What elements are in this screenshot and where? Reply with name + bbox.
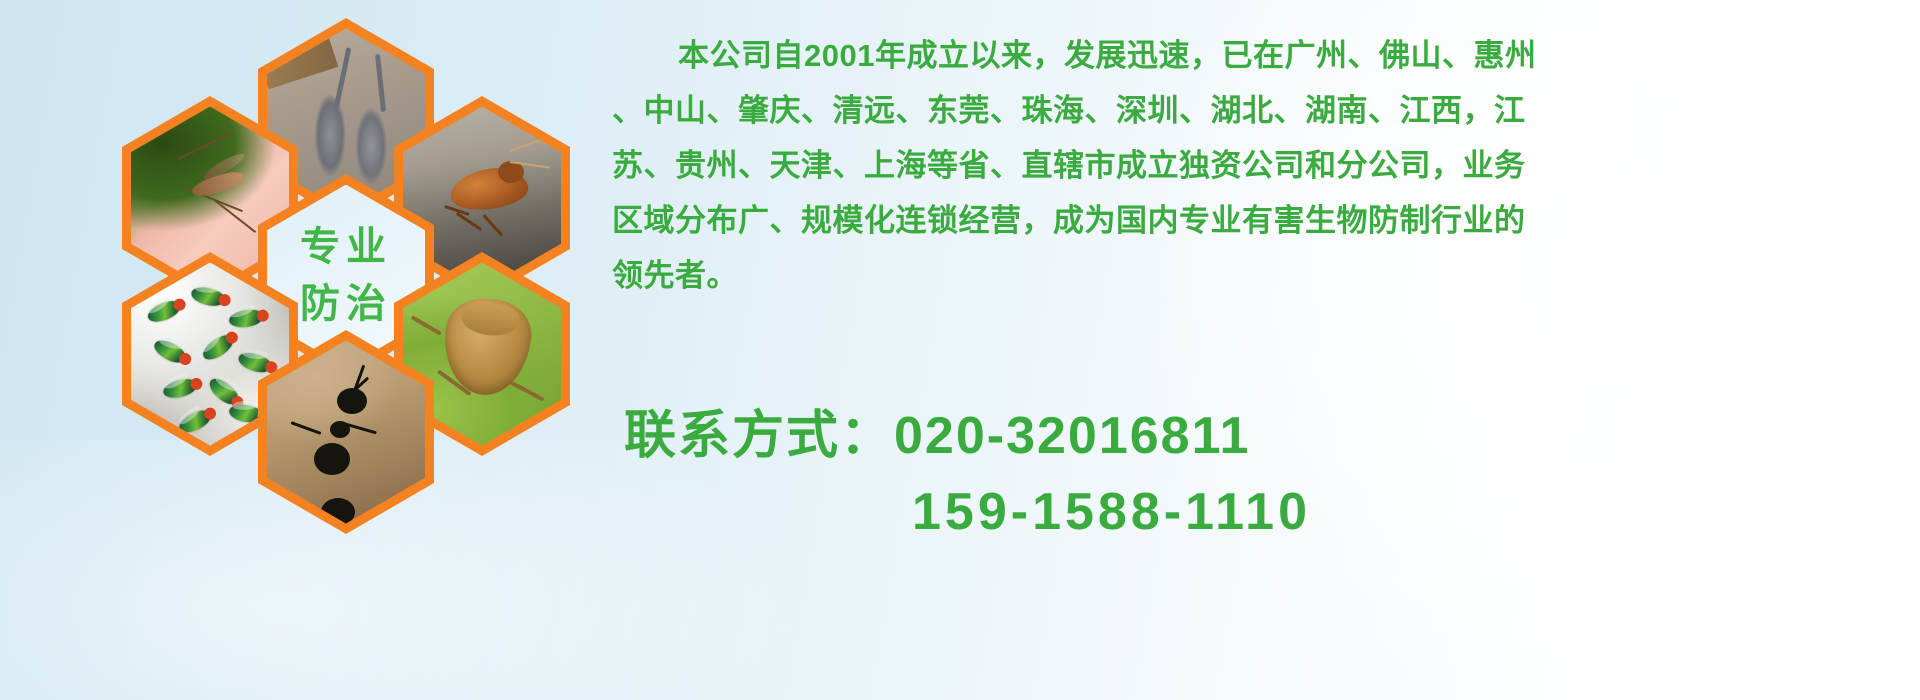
company-description: 本公司自2001年成立以来，发展迅速，已在广州、佛山、惠州 、中山、肇庆、清远、…	[612, 28, 1902, 303]
description-line-4: 区域分布广、规模化连锁经营，成为国内专业有害生物防制行业的	[612, 193, 1902, 248]
contact-block: 联系方式：020-32016811 159-1588-1110	[624, 398, 1914, 550]
description-line-5: 领先者。	[612, 248, 1902, 303]
slogan-line-2: 防治	[300, 276, 392, 333]
contact-phone-primary[interactable]: 联系方式：020-32016811	[624, 398, 1914, 474]
description-paragraph: 本公司自2001年成立以来，发展迅速，已在广州、佛山、惠州 、中山、肇庆、清远、…	[612, 28, 1902, 303]
promo-banner: 专业 防治	[0, 0, 1920, 700]
contact-phone-secondary[interactable]: 159-1588-1110	[624, 474, 1914, 550]
description-line-2: 、中山、肇庆、清远、东莞、珠海、深圳、湖北、湖南、江西，江	[612, 83, 1902, 138]
honeycomb-collage: 专业 防治	[86, 8, 606, 588]
ant-photo	[267, 341, 425, 524]
slogan-line-1: 专业	[300, 219, 392, 276]
description-line-1: 本公司自2001年成立以来，发展迅速，已在广州、佛山、惠州	[612, 28, 1902, 83]
description-line-3: 苏、贵州、天津、上海等省、直辖市成立独资公司和分公司，业务	[612, 138, 1902, 193]
